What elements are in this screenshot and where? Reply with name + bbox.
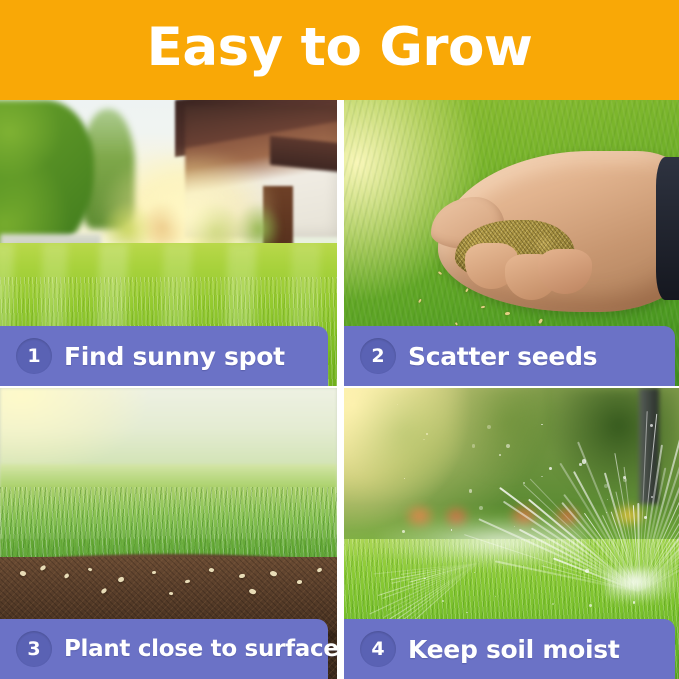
sleeve-shape <box>656 157 679 300</box>
step-4-number-badge: 4 <box>360 631 396 667</box>
sprinkler-head-glow <box>605 568 679 603</box>
water-droplet <box>549 467 552 470</box>
water-droplet <box>442 600 444 602</box>
water-droplet <box>633 601 635 603</box>
seed-in-soil <box>168 591 173 595</box>
water-droplet <box>495 596 496 597</box>
seed-in-soil <box>296 580 301 584</box>
water-droplet <box>579 463 582 466</box>
step-4-label: Keep soil moist <box>408 635 619 664</box>
step-3-label: Plant close to surface <box>64 636 339 662</box>
step-4-label-bar[interactable]: 4 Keep soil moist <box>344 619 675 679</box>
step-2-number-badge: 2 <box>360 338 396 374</box>
step-1-number-badge: 1 <box>16 338 52 374</box>
water-droplet <box>650 424 653 427</box>
steps-grid <box>0 100 679 679</box>
step-2-label-bar[interactable]: 2 Scatter seeds <box>344 326 675 386</box>
step-1-label: Find sunny spot <box>64 342 285 371</box>
water-droplet <box>582 459 586 463</box>
page-title: Easy to Grow <box>0 12 679 84</box>
water-droplet <box>552 603 554 605</box>
step-3-number-badge: 3 <box>16 631 52 667</box>
step-2-label: Scatter seeds <box>408 342 597 371</box>
water-droplet <box>577 558 580 561</box>
sun-flare <box>344 388 545 557</box>
step-1-label-bar[interactable]: 1 Find sunny spot <box>0 326 328 386</box>
step-3-label-bar[interactable]: 3 Plant close to surface <box>0 619 328 679</box>
water-droplet <box>424 578 425 579</box>
water-droplet <box>651 496 653 498</box>
easy-to-grow-infographic: Easy to Grow <box>0 0 679 679</box>
header-banner: Easy to Grow <box>0 0 679 100</box>
